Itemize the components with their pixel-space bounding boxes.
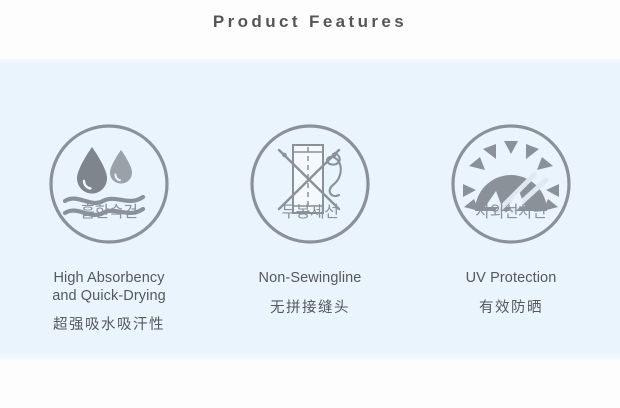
feature-item-non-sewingline: 무봉제선 Non-Sewingline 无拼接缝头 bbox=[215, 59, 405, 318]
caption-non-sewingline: Non-Sewingline 无拼接缝头 bbox=[259, 270, 362, 318]
caption-en-line1: Non-Sewingline bbox=[259, 270, 362, 288]
caption-cn: 超强吸水吸汗性 bbox=[52, 316, 166, 335]
badge-label-non-sewingline: 무봉제선 bbox=[249, 203, 371, 221]
caption-en-line1: UV Protection bbox=[466, 270, 557, 288]
water-drops-waves-icon: 흡한속건 bbox=[48, 123, 170, 245]
features-panel: 흡한속건 High Absorbency and Quick-Drying 超强… bbox=[0, 59, 620, 360]
feature-item-uv-protection: 자외선차단 UV Protection 有效防晒 bbox=[416, 59, 606, 318]
caption-absorbency: High Absorbency and Quick-Drying 超强吸水吸汗性 bbox=[52, 270, 166, 335]
badge-label-absorbency: 흡한속건 bbox=[48, 203, 170, 221]
caption-uv-protection: UV Protection 有效防晒 bbox=[466, 270, 557, 318]
no-sewing-needle-thread-icon: 무봉제선 bbox=[249, 123, 371, 245]
sun-uv-block-icon: 자외선차단 bbox=[450, 123, 572, 245]
caption-cn: 无拼接缝头 bbox=[259, 299, 362, 318]
caption-en-line2: and Quick-Drying bbox=[52, 288, 166, 306]
page-title: Product Features bbox=[0, 10, 620, 34]
feature-item-absorbency: 흡한속건 High Absorbency and Quick-Drying 超强… bbox=[14, 59, 204, 335]
badge-label-uv-protection: 자외선차단 bbox=[450, 203, 572, 221]
caption-en-line1: High Absorbency bbox=[52, 270, 166, 288]
features-row: 흡한속건 High Absorbency and Quick-Drying 超强… bbox=[0, 59, 620, 360]
caption-cn: 有效防晒 bbox=[466, 299, 557, 318]
